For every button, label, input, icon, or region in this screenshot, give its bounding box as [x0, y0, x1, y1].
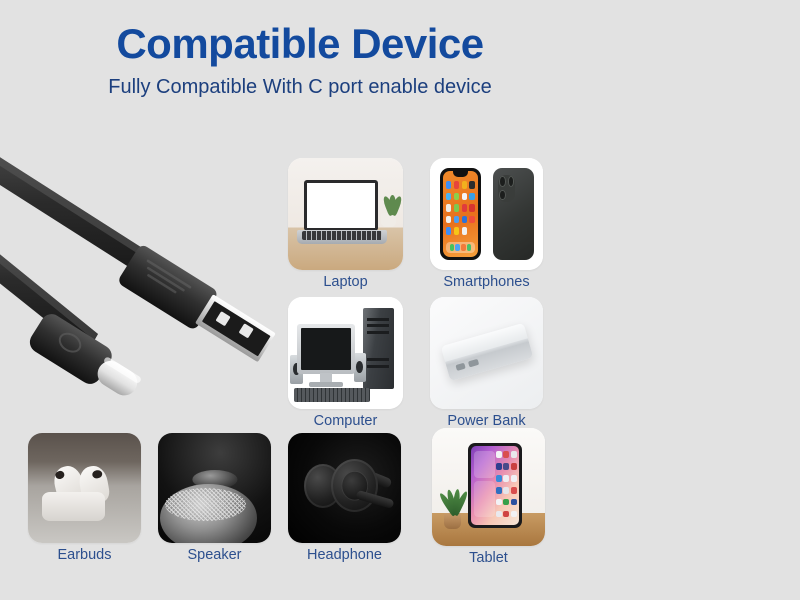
device-card-computer[interactable]: Computer — [288, 297, 403, 430]
plant-decor-icon — [379, 196, 399, 227]
earbuds-image — [28, 433, 141, 543]
plant-decor-icon — [439, 489, 466, 529]
page-title: Compatible Device — [0, 22, 600, 66]
device-card-tablet[interactable]: Tablet — [432, 428, 545, 567]
device-card-headphone[interactable]: Headphone — [288, 433, 401, 564]
laptop-image — [288, 158, 403, 270]
device-label-tablet: Tablet — [432, 550, 545, 567]
device-card-earbuds[interactable]: Earbuds — [28, 433, 141, 564]
tablet-image — [432, 428, 545, 546]
device-card-power-bank[interactable]: Power Bank — [430, 297, 543, 430]
device-card-smartphones[interactable]: Smartphones — [430, 158, 543, 291]
header: Compatible Device Fully Compatible With … — [0, 22, 600, 98]
speaker-image — [158, 433, 271, 543]
keyboard-icon — [294, 388, 370, 403]
headphone-image — [288, 433, 401, 543]
device-label-laptop: Laptop — [288, 274, 403, 291]
device-label-headphone: Headphone — [288, 547, 401, 564]
smartphones-image — [430, 158, 543, 270]
tablet-device-icon — [468, 443, 522, 528]
usb-cable-image — [0, 150, 290, 420]
monitor-icon — [297, 324, 355, 374]
phone-back-icon — [493, 168, 534, 260]
device-card-speaker[interactable]: Speaker — [158, 433, 271, 564]
device-label-computer: Computer — [288, 413, 403, 430]
device-label-speaker: Speaker — [158, 547, 271, 564]
product-infographic: Compatible Device Fully Compatible With … — [0, 0, 800, 600]
pc-tower-icon — [363, 308, 394, 389]
page-subtitle: Fully Compatible With C port enable devi… — [0, 76, 600, 98]
device-card-laptop[interactable]: Laptop — [288, 158, 403, 291]
phone-front-icon — [440, 168, 481, 260]
device-label-earbuds: Earbuds — [28, 547, 141, 564]
computer-image — [288, 297, 403, 409]
earbuds-case-icon — [42, 492, 105, 521]
power-bank-image — [430, 297, 543, 409]
device-label-smartphones: Smartphones — [430, 274, 543, 291]
usb-a-connector — [117, 243, 279, 368]
